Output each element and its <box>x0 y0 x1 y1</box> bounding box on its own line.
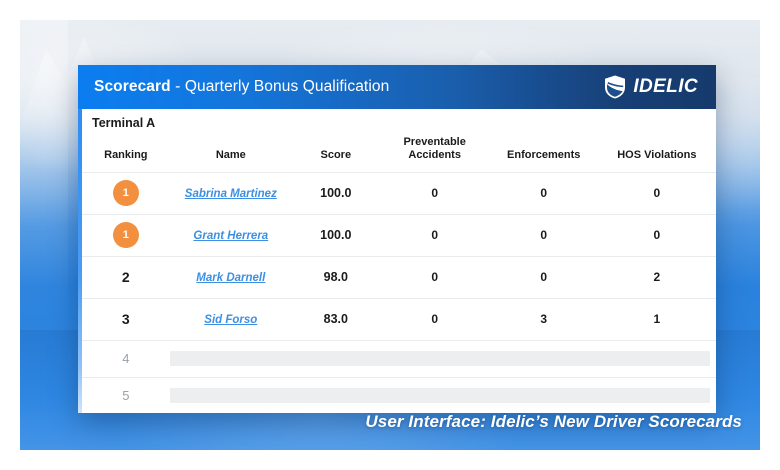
cell-loading-placeholder <box>170 340 716 377</box>
cell-score-value: 98.0 <box>324 270 348 284</box>
page-title-light: Quarterly Bonus Qualification <box>185 78 390 95</box>
cell-preventable-accidents: 0 <box>380 256 490 298</box>
image-caption: User Interface: Idelic’s New Driver Scor… <box>365 412 742 432</box>
cell-enforcements-value: 0 <box>540 186 547 200</box>
rank-value: 4 <box>122 351 129 366</box>
cell-hos-violations: 0 <box>598 214 716 256</box>
cell-score: 98.0 <box>292 256 380 298</box>
column-header-enforcements[interactable]: Enforcements <box>490 132 598 172</box>
card-header: Scorecard - Quarterly Bonus Qualificatio… <box>78 65 716 109</box>
skeleton-bar <box>170 351 710 366</box>
cell-name: Sid Forso <box>170 298 292 340</box>
page-title-separator: - <box>171 78 185 95</box>
driver-name-link[interactable]: Mark Darnell <box>196 272 265 284</box>
rank-value: 2 <box>122 269 130 285</box>
cell-preventable-accidents: 0 <box>380 214 490 256</box>
cell-preventable-accidents-value: 0 <box>431 186 438 200</box>
rank-value: 5 <box>122 388 129 403</box>
cell-score-value: 83.0 <box>324 312 348 326</box>
driver-name-link[interactable]: Sabrina Martinez <box>185 188 277 200</box>
cell-hos-violations-value: 2 <box>654 270 661 284</box>
cell-hos-violations: 1 <box>598 298 716 340</box>
cell-hos-violations-value: 0 <box>654 186 661 200</box>
page-title-strong: Scorecard <box>94 78 171 95</box>
cell-ranking: 1 <box>82 214 170 256</box>
cell-preventable-accidents-value: 0 <box>431 270 438 284</box>
rank-badge: 1 <box>113 222 139 248</box>
driver-name-link[interactable]: Grant Herrera <box>193 230 268 242</box>
cell-score: 100.0 <box>292 214 380 256</box>
cell-preventable-accidents-value: 0 <box>431 312 438 326</box>
table-body: 1Sabrina Martinez100.00001Grant Herrera1… <box>82 172 716 413</box>
cell-enforcements: 3 <box>490 298 598 340</box>
scorecard-card: Scorecard - Quarterly Bonus Qualificatio… <box>78 65 716 413</box>
column-header-name[interactable]: Name <box>170 132 292 172</box>
cell-ranking: 4 <box>82 340 170 377</box>
table-row[interactable]: 2Mark Darnell98.0002 <box>82 256 716 298</box>
cell-enforcements-value: 0 <box>540 228 547 242</box>
skeleton-bar <box>170 388 710 403</box>
page-title: Scorecard - Quarterly Bonus Qualificatio… <box>94 78 389 96</box>
cell-score: 100.0 <box>292 172 380 214</box>
cell-hos-violations-value: 0 <box>654 228 661 242</box>
rank-badge: 1 <box>113 180 139 206</box>
cell-enforcements-value: 3 <box>540 312 547 326</box>
cell-ranking: 3 <box>82 298 170 340</box>
column-header-hos-violations[interactable]: HOS Violations <box>598 132 716 172</box>
cell-ranking: 2 <box>82 256 170 298</box>
table-row-skeleton: 5 <box>82 377 716 413</box>
cell-ranking: 5 <box>82 377 170 413</box>
cell-enforcements: 0 <box>490 256 598 298</box>
cell-name: Sabrina Martinez <box>170 172 292 214</box>
table-header: Ranking Name Score Preventable Accidents… <box>82 132 716 172</box>
idelic-logo: IDELIC <box>604 75 698 99</box>
driver-name-link[interactable]: Sid Forso <box>204 314 257 326</box>
image-frame: Scorecard - Quarterly Bonus Qualificatio… <box>0 0 780 470</box>
column-header-score[interactable]: Score <box>292 132 380 172</box>
cell-score: 83.0 <box>292 298 380 340</box>
column-header-ranking[interactable]: Ranking <box>82 132 170 172</box>
logo-text: IDELIC <box>633 76 698 98</box>
rank-value: 3 <box>122 311 130 327</box>
table-row[interactable]: 1Grant Herrera100.0000 <box>82 214 716 256</box>
cell-score-value: 100.0 <box>320 228 351 242</box>
cell-preventable-accidents: 0 <box>380 298 490 340</box>
background-panel: Scorecard - Quarterly Bonus Qualificatio… <box>20 20 760 450</box>
cell-hos-violations: 2 <box>598 256 716 298</box>
cell-preventable-accidents: 0 <box>380 172 490 214</box>
table-row[interactable]: 3Sid Forso83.0031 <box>82 298 716 340</box>
scorecard-table: Ranking Name Score Preventable Accidents… <box>82 132 716 413</box>
column-header-preventable-accidents[interactable]: Preventable Accidents <box>380 132 490 172</box>
cell-enforcements: 0 <box>490 214 598 256</box>
terminal-label: Terminal A <box>82 109 716 132</box>
cell-loading-placeholder <box>170 377 716 413</box>
cell-name: Grant Herrera <box>170 214 292 256</box>
shield-icon <box>604 75 626 99</box>
cell-enforcements: 0 <box>490 172 598 214</box>
cell-preventable-accidents-value: 0 <box>431 228 438 242</box>
cell-name: Mark Darnell <box>170 256 292 298</box>
cell-enforcements-value: 0 <box>540 270 547 284</box>
table-row-skeleton: 4 <box>82 340 716 377</box>
left-accent-strip <box>78 109 82 413</box>
table-row[interactable]: 1Sabrina Martinez100.0000 <box>82 172 716 214</box>
cell-hos-violations-value: 1 <box>654 312 661 326</box>
card-body: Terminal A Ranking Name Score Preventabl… <box>78 109 716 413</box>
cell-score-value: 100.0 <box>320 186 351 200</box>
cell-ranking: 1 <box>82 172 170 214</box>
cell-hos-violations: 0 <box>598 172 716 214</box>
